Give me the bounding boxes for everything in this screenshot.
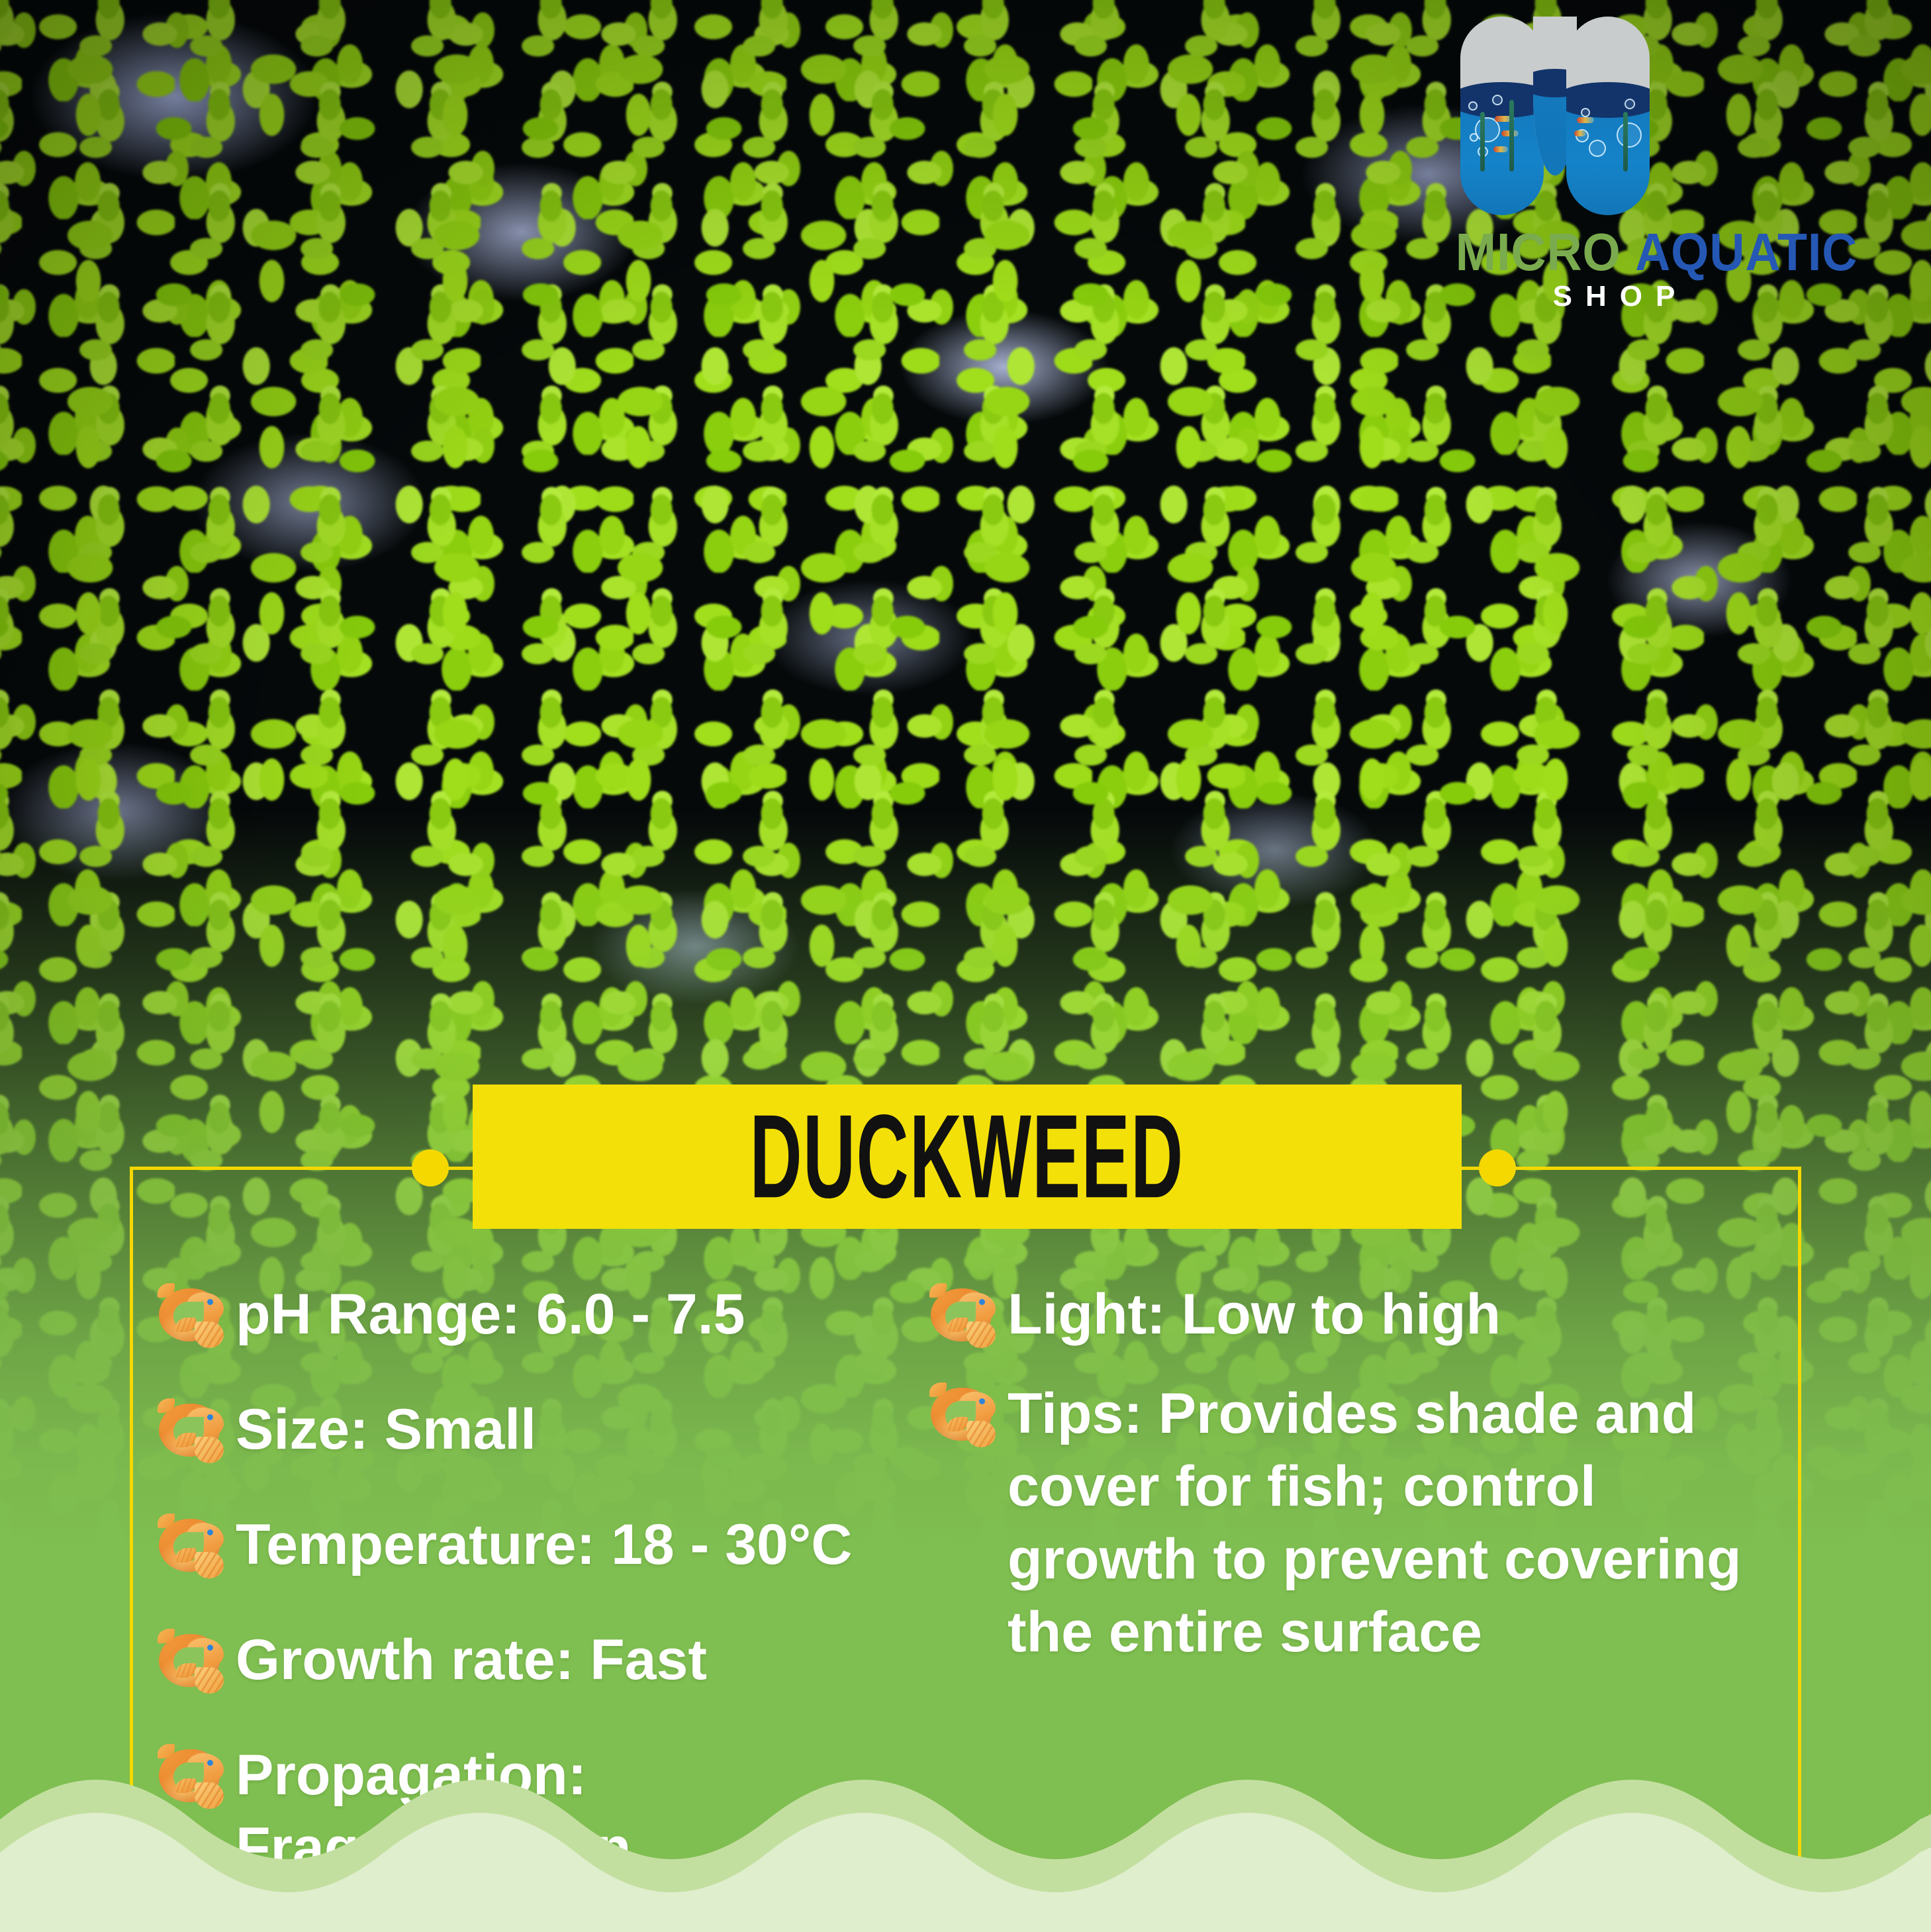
goldfish-icon [156, 1512, 225, 1581]
goldfish-icon [156, 1397, 225, 1466]
infographic-poster: MICRO AQUATIC SHOP DUCKWEED pH Range: 6.… [0, 0, 1931, 1932]
logo-fish [1577, 117, 1594, 123]
list-item: pH Range: 6.0 - 7.5 [156, 1278, 911, 1351]
logo-wordmark: MICRO AQUATIC [1456, 222, 1772, 283]
logo-word-micro: MICRO [1456, 222, 1621, 281]
list-item: Temperature: 18 - 30°C [156, 1508, 911, 1581]
goldfish-icon [928, 1381, 997, 1450]
spec-ph-range: pH Range: 6.0 - 7.5 [236, 1278, 745, 1351]
logo-word-aquatic: AQUATIC [1635, 222, 1858, 281]
logo-leg-left [1460, 17, 1544, 215]
logo-bubble [1470, 133, 1478, 142]
spec-size: Size: Small [236, 1393, 536, 1466]
brand-logo[interactable]: MICRO AQUATIC SHOP [1442, 17, 1786, 321]
logo-m-notch [1544, 17, 1566, 215]
goldfish-icon [928, 1282, 997, 1351]
spec-growth-rate: Growth rate: Fast [236, 1623, 707, 1696]
logo-water-surface [1566, 82, 1650, 118]
list-item: Growth rate: Fast [156, 1623, 911, 1696]
spec-temperature: Temperature: 18 - 30°C [236, 1508, 852, 1581]
title-banner: DUCKWEED [473, 1085, 1462, 1229]
page-title: DUCKWEED [750, 1088, 1184, 1226]
logo-leg-right [1566, 17, 1650, 215]
list-item: Tips: Provides shade and cover for fish;… [928, 1377, 1801, 1668]
bottom-wave-decoration [0, 1740, 1931, 1932]
logo-bubble [1581, 108, 1590, 117]
logo-coral-reef [1566, 144, 1650, 215]
micro-aquatic-m-logo-icon [1460, 17, 1679, 215]
logo-fish [1574, 130, 1586, 136]
goldfish-icon [156, 1282, 225, 1351]
logo-bubble [1468, 101, 1478, 111]
list-item: Size: Small [156, 1393, 911, 1466]
logo-word-shop: SHOP [1442, 280, 1786, 313]
logo-coral-reef [1460, 144, 1544, 215]
spec-light: Light: Low to high [1008, 1278, 1501, 1351]
frame-corner-dot-left [412, 1149, 449, 1186]
logo-bubble [1492, 95, 1503, 105]
goldfish-icon [156, 1627, 225, 1696]
logo-bubble [1625, 99, 1635, 109]
frame-corner-dot-right [1479, 1149, 1516, 1186]
spec-tips: Tips: Provides shade and cover for fish;… [1008, 1377, 1801, 1668]
list-item: Light: Low to high [928, 1278, 1801, 1351]
